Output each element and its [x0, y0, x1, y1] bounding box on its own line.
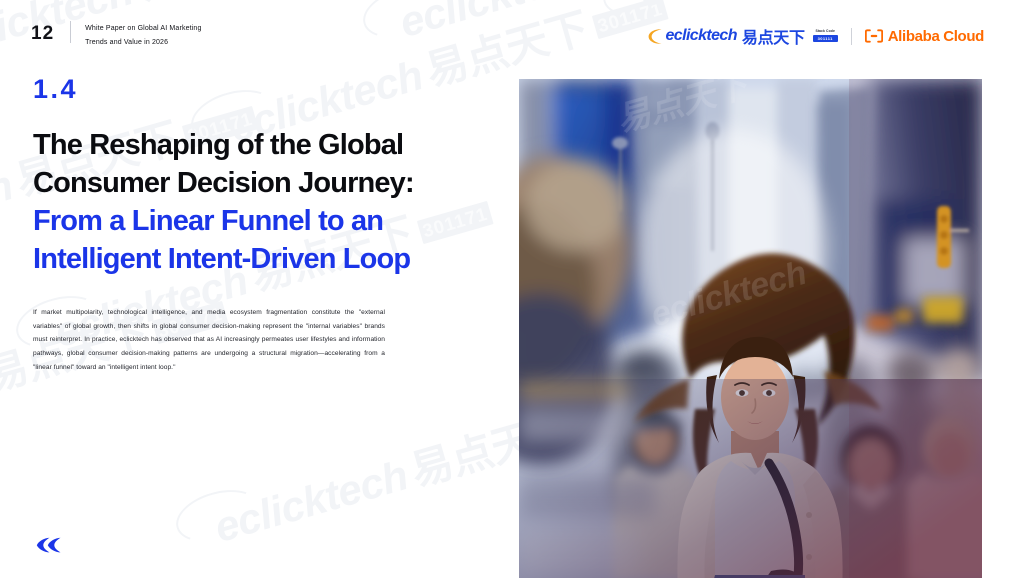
stock-code-badge: Stack Code 301111 [813, 30, 838, 42]
document-title-line1: White Paper on Global AI Marketing [85, 20, 201, 34]
alibaba-cloud-wordmark: Alibaba Cloud [888, 28, 984, 45]
headline-line-3: From a Linear Funnel to an [33, 203, 478, 241]
page-number: 12 [31, 20, 54, 43]
hero-photo: 易点天下 eclicktech [519, 79, 982, 578]
eclicktech-logo: eclicktech 易点天下 Stack Code 301111 [648, 24, 838, 48]
watermark-en: eclicktech [209, 451, 412, 551]
alibaba-cloud-mark-icon [865, 29, 883, 43]
headline-line-2: Consumer Decision Journey: [33, 165, 478, 203]
eclicktech-chinese-name: 易点天下 [742, 24, 805, 48]
double-chevron-icon [36, 537, 66, 553]
section-content: 1.4 The Reshaping of the Global Consumer… [33, 76, 478, 374]
watermark-en: eclicktech [0, 161, 18, 261]
section-body-text: If market multipolarity, technological i… [33, 306, 385, 374]
brand-lockup: eclicktech 易点天下 Stack Code 301111 Alibab… [648, 24, 985, 48]
eclicktech-wordmark: eclicktech [666, 27, 737, 45]
header-left-group: 12 White Paper on Global AI Marketing Tr… [31, 20, 202, 49]
stock-code-label: Stack Code [815, 30, 834, 34]
section-headline: The Reshaping of the Global Consumer Dec… [33, 127, 478, 279]
footer-logo-mark [36, 537, 66, 553]
headline-line-4: Intelligent Intent-Driven Loop [33, 241, 478, 279]
stock-code-value: 301111 [813, 35, 838, 42]
watermark-swoosh-icon [170, 481, 266, 551]
document-title: White Paper on Global AI Marketing Trend… [85, 20, 201, 49]
section-number: 1.4 [33, 76, 478, 103]
header-divider [70, 21, 71, 43]
brand-separator [851, 28, 852, 45]
alibaba-cloud-logo: Alibaba Cloud [865, 28, 984, 45]
headline-line-1: The Reshaping of the Global [33, 127, 478, 165]
document-title-line2: Trends and Value in 2026 [85, 34, 201, 48]
eclicktech-swoosh-icon [648, 28, 662, 45]
slide-page: eclicktech易点天下301171 eclicktech易点天下30117… [0, 0, 1024, 578]
